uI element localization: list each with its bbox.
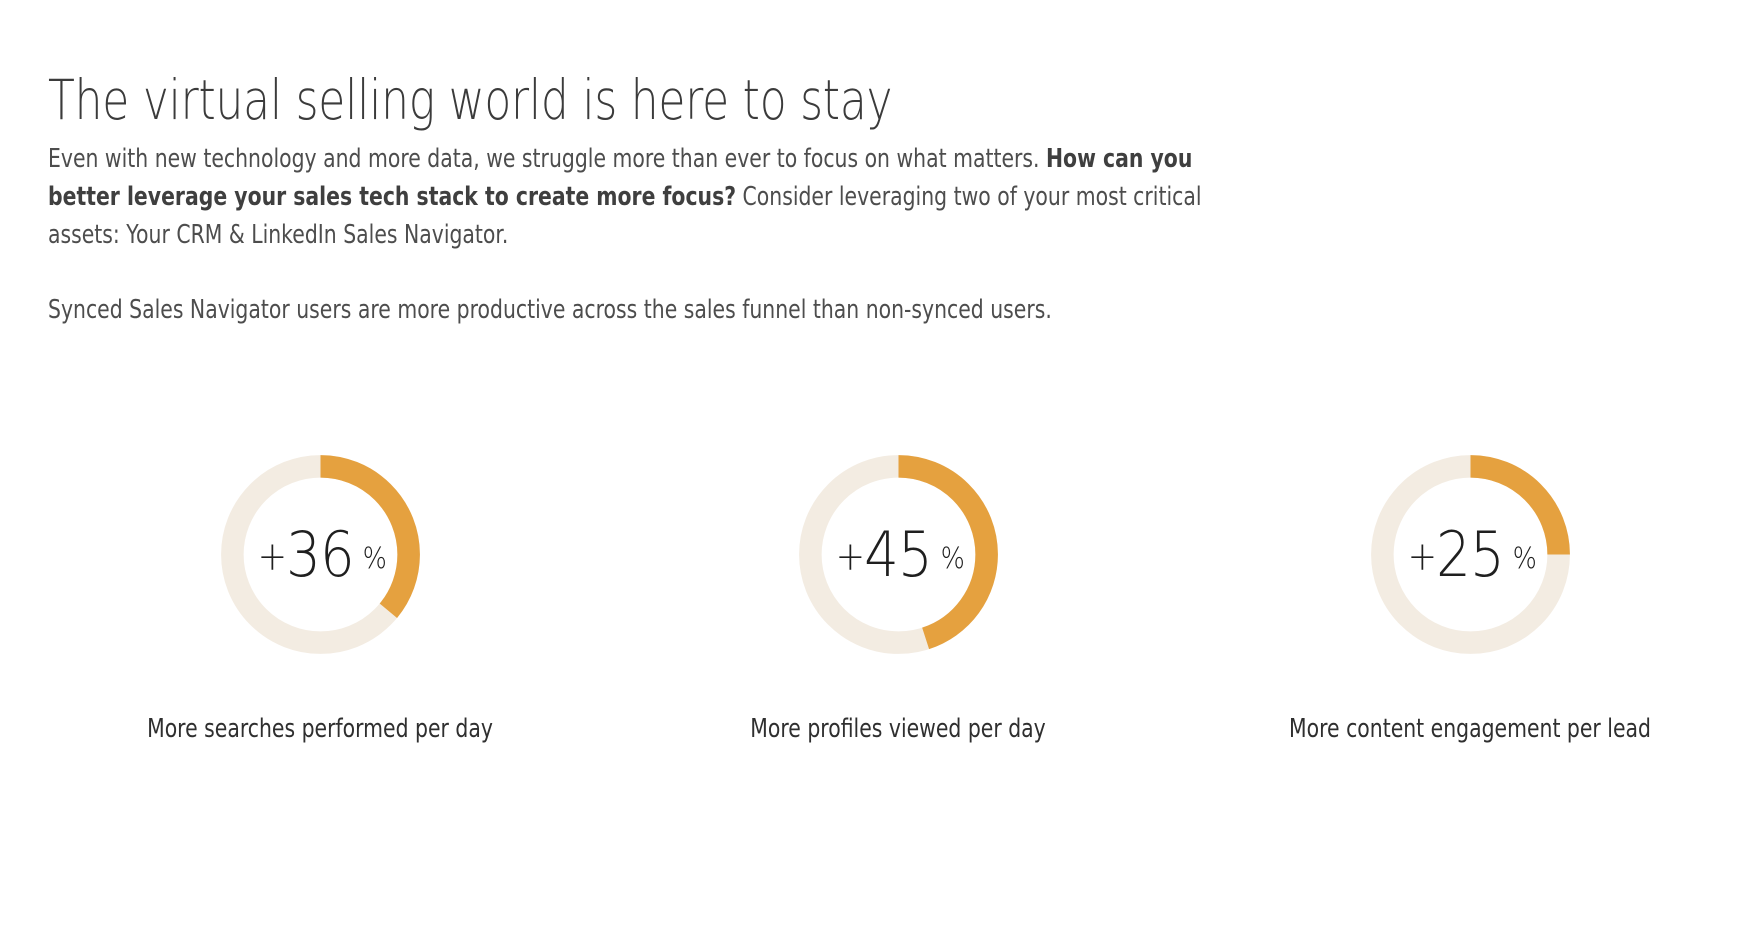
donut-plus-sign-searches: +	[258, 534, 287, 580]
donut-chart-content: +25 %	[1368, 452, 1573, 657]
donut-chart-profiles: +45 %	[796, 452, 1001, 657]
intro-text-lead: Even with new technology and more data, …	[48, 144, 1046, 174]
donut-center-searches: +36 %	[218, 452, 423, 657]
donut-center-content: +25 %	[1368, 452, 1573, 657]
intro-paragraph: Even with new technology and more data, …	[48, 140, 1248, 254]
secondary-paragraph: Synced Sales Navigator users are more pr…	[48, 291, 1248, 329]
donut-value-searches: +36	[258, 524, 354, 586]
donut-percent-symbol-searches: %	[363, 544, 387, 573]
gauge-card-profiles: +45 % More profiles viewed per day	[638, 452, 1158, 745]
donut-chart-searches: +36 %	[218, 452, 423, 657]
donut-plus-sign-profiles: +	[836, 534, 865, 580]
donut-value-profiles: +45	[836, 524, 932, 586]
gauge-caption-searches: More searches performed per day	[112, 713, 528, 745]
infographic-slide: The virtual selling world is here to sta…	[0, 0, 1744, 940]
donut-value-row-searches: +36 %	[251, 524, 389, 586]
body-copy: Even with new technology and more data, …	[48, 140, 1578, 329]
donut-percent-symbol-profiles: %	[941, 544, 965, 573]
gauge-caption-profiles: More profiles viewed per day	[690, 713, 1106, 745]
donut-percent-symbol-content: %	[1513, 544, 1537, 573]
donut-number-searches: 36	[286, 518, 354, 591]
donut-value-content: +25	[1408, 524, 1504, 586]
donut-center-profiles: +45 %	[796, 452, 1001, 657]
donut-plus-sign-content: +	[1408, 534, 1437, 580]
gauge-caption-content: More content engagement per lead	[1262, 713, 1678, 745]
gauge-card-searches: +36 % More searches performed per day	[60, 452, 580, 745]
donut-number-profiles: 45	[864, 518, 932, 591]
page-title: The virtual selling world is here to sta…	[48, 69, 1168, 132]
donut-number-content: 25	[1436, 518, 1504, 591]
gauge-row: +36 % More searches performed per day +4…	[0, 452, 1744, 852]
donut-value-row-profiles: +45 %	[829, 524, 967, 586]
gauge-card-content: +25 % More content engagement per lead	[1210, 452, 1730, 745]
donut-value-row-content: +25 %	[1401, 524, 1539, 586]
